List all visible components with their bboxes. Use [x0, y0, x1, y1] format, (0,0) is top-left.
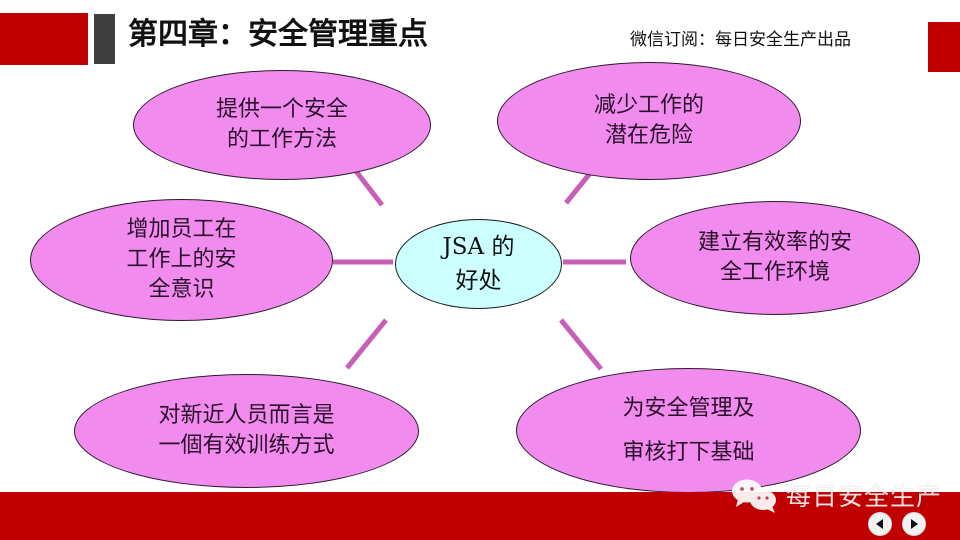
wechat-logo-icon — [728, 478, 782, 514]
node-label: 减少工作的 潜在危险 — [588, 91, 710, 151]
node-label: 提供一个安全 的工作方法 — [210, 95, 354, 155]
prev-slide-button[interactable] — [868, 512, 892, 536]
watermark-text: 每日安全生产 — [786, 482, 942, 512]
header-gray-bar — [94, 14, 115, 64]
header-red-block-right — [928, 22, 960, 72]
connector-center-to-bot-right — [561, 320, 601, 369]
node-label: 为安全管理及 审核打下基础 — [616, 387, 760, 475]
header-subtitle: 微信订阅：每日安全生产出品 — [630, 30, 851, 50]
node-label: 建立有效率的安 全工作环境 — [692, 228, 858, 288]
slide-canvas: 第四章：安全管理重点 微信订阅：每日安全生产出品 提供一个安全 的工作方法 减少… — [0, 0, 960, 540]
connector-center-to-bot-left — [347, 320, 386, 368]
arrow-left-icon — [873, 517, 887, 531]
node-reduce-latent-hazards[interactable]: 减少工作的 潜在危险 — [497, 62, 801, 180]
node-label: 增加员工在 工作上的安 全意识 — [120, 215, 242, 305]
next-slide-button[interactable] — [902, 512, 926, 536]
page-title: 第四章：安全管理重点 — [128, 18, 428, 52]
node-increase-employee-awareness[interactable]: 增加员工在 工作上的安 全意识 — [30, 199, 333, 321]
node-efficient-safe-environment[interactable]: 建立有效率的安 全工作环境 — [630, 201, 920, 315]
node-center-jsa-benefits[interactable]: JSA 的 好处 — [395, 219, 562, 309]
arrow-right-icon — [907, 517, 921, 531]
node-label: 对新近人员而言是 一個有效训练方式 — [152, 401, 340, 461]
node-provide-safe-work-method[interactable]: 提供一个安全 的工作方法 — [133, 70, 431, 180]
header-red-block-left — [0, 13, 88, 65]
node-label: JSA 的 好处 — [437, 230, 521, 298]
node-foundation-for-management-audit[interactable]: 为安全管理及 审核打下基础 — [516, 368, 861, 493]
node-effective-training-for-newcomers[interactable]: 对新近人员而言是 一個有效训练方式 — [74, 374, 419, 488]
